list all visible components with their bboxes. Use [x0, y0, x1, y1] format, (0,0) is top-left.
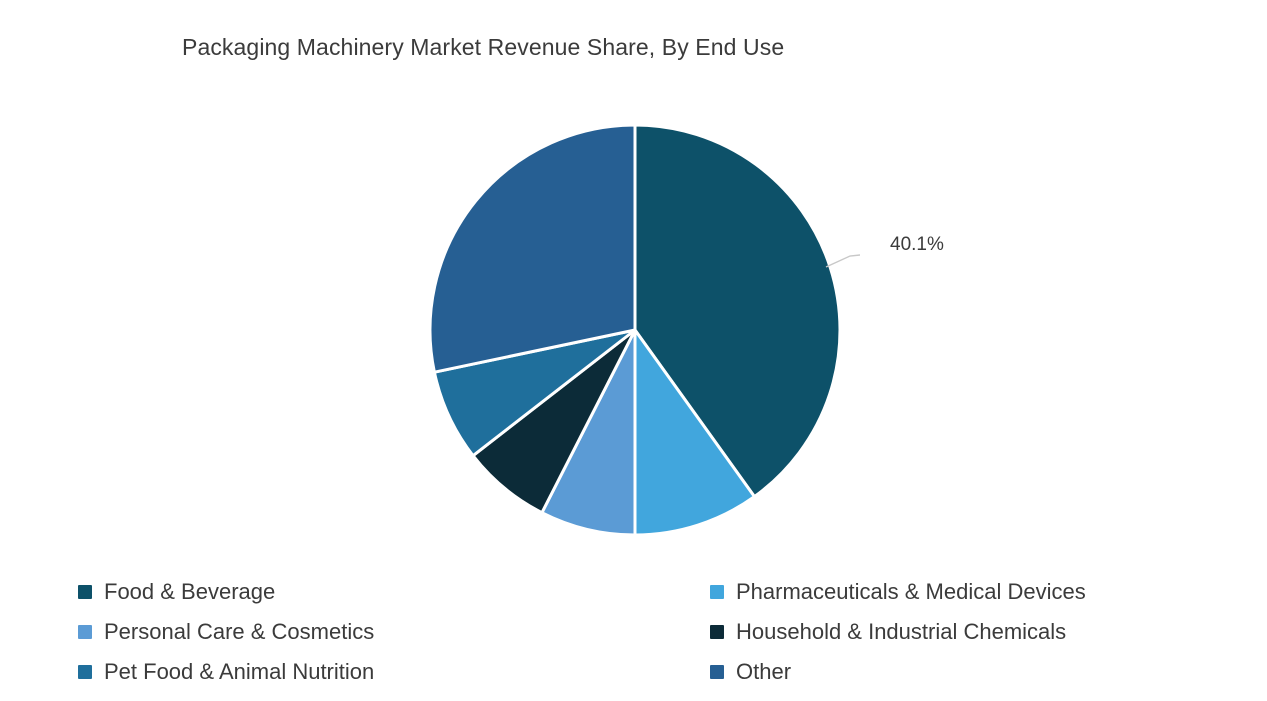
legend-item-household-industrial-chemicals[interactable]: Household & Industrial Chemicals	[710, 612, 1267, 652]
legend-item-pet-food-animal-nutrition[interactable]: Pet Food & Animal Nutrition	[78, 652, 638, 692]
pie-chart-svg	[420, 105, 860, 550]
pie-slices-group	[430, 125, 840, 535]
legend-item-other[interactable]: Other	[710, 652, 1267, 692]
slice-value-label-food-beverage: 40.1%	[890, 234, 944, 256]
callout-leader-line	[826, 252, 860, 267]
legend-item-personal-care-cosmetics[interactable]: Personal Care & Cosmetics	[78, 612, 638, 652]
legend-item-label: Household & Industrial Chemicals	[736, 621, 1066, 643]
legend-item-label: Food & Beverage	[104, 581, 275, 603]
legend-column-right: Pharmaceuticals & Medical Devices Househ…	[710, 572, 1267, 692]
legend-item-label: Pet Food & Animal Nutrition	[104, 661, 374, 683]
pie-chart-figure: Packaging Machinery Market Revenue Share…	[0, 0, 1267, 701]
legend-item-label: Pharmaceuticals & Medical Devices	[736, 581, 1086, 603]
legend-swatch-icon	[78, 665, 92, 679]
legend-item-label: Other	[736, 661, 791, 683]
chart-legend: Food & Beverage Personal Care & Cosmetic…	[78, 572, 1238, 684]
page-title: Packaging Machinery Market Revenue Share…	[182, 34, 784, 61]
legend-swatch-icon	[710, 625, 724, 639]
legend-swatch-icon	[78, 585, 92, 599]
legend-item-food-beverage[interactable]: Food & Beverage	[78, 572, 638, 612]
legend-item-pharmaceuticals-medical-devices[interactable]: Pharmaceuticals & Medical Devices	[710, 572, 1267, 612]
legend-item-label: Personal Care & Cosmetics	[104, 621, 374, 643]
legend-swatch-icon	[710, 665, 724, 679]
legend-swatch-icon	[710, 585, 724, 599]
legend-swatch-icon	[78, 625, 92, 639]
pie-chart-plot-area	[420, 105, 860, 550]
pie-slice[interactable]	[430, 125, 635, 372]
legend-column-left: Food & Beverage Personal Care & Cosmetic…	[78, 572, 638, 692]
